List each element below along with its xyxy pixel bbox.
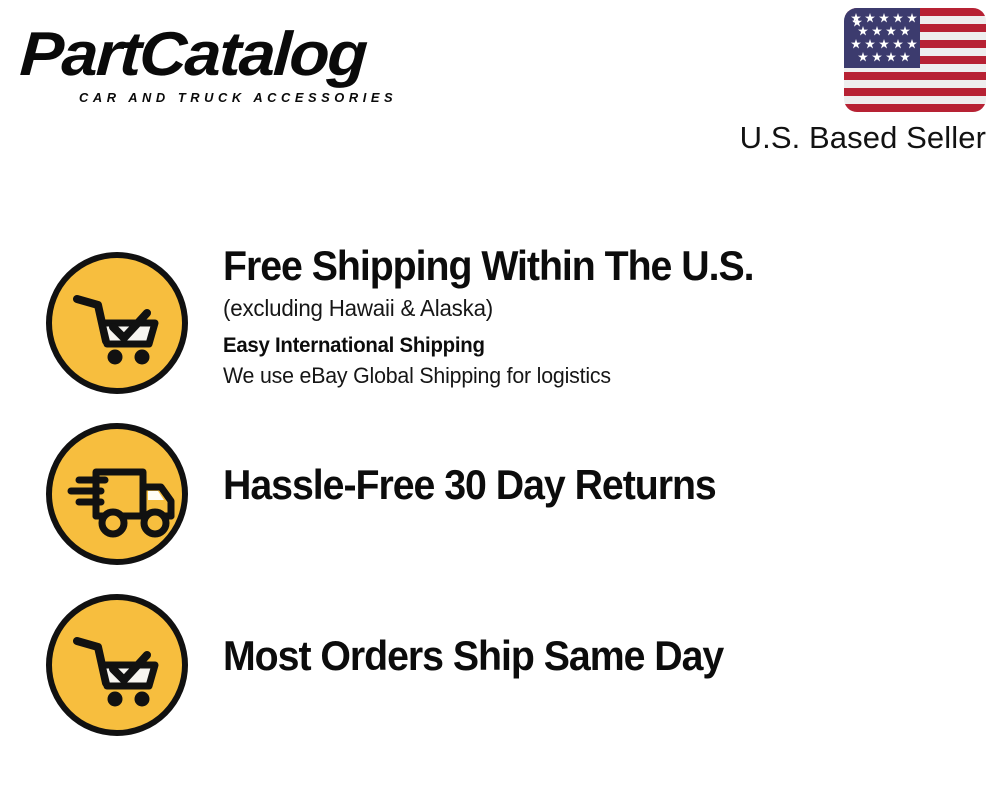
us-based-seller-label: U.S. Based Seller	[696, 120, 986, 156]
partcatalog-logo[interactable]: PartCatalog CAR AND TRUCK ACCESSORIES	[22, 22, 492, 117]
feature-text-block: Free Shipping Within The U.S. (excluding…	[223, 242, 983, 391]
feature-text-block: Most Orders Ship Same Day	[223, 582, 983, 730]
page-header: PartCatalog CAR AND TRUCK ACCESSORIES	[0, 0, 1000, 170]
feature-title: Free Shipping Within The U.S.	[223, 242, 934, 290]
shopping-cart-check-icon	[43, 591, 191, 739]
feature-sub-title: Easy International Shipping	[223, 332, 960, 360]
shopping-cart-check-icon	[43, 249, 191, 397]
list-item: Hassle-Free 30 Day Returns	[0, 411, 1000, 582]
feature-list: Free Shipping Within The U.S. (excluding…	[0, 240, 1000, 753]
feature-sub-note: We use eBay Global Shipping for logistic…	[223, 360, 960, 391]
delivery-truck-icon	[43, 420, 191, 568]
list-item: Free Shipping Within The U.S. (excluding…	[0, 240, 1000, 411]
feature-text-block: Hassle-Free 30 Day Returns	[223, 411, 983, 559]
feature-title: Most Orders Ship Same Day	[223, 632, 934, 680]
logo-tagline: CAR AND TRUCK ACCESSORIES	[79, 90, 397, 106]
feature-title: Hassle-Free 30 Day Returns	[223, 461, 934, 509]
logo-wordmark: PartCatalog	[18, 22, 520, 88]
feature-note: (excluding Hawaii & Alaska)	[223, 292, 960, 324]
us-based-seller-badge: U.S. Based Seller	[696, 8, 986, 156]
list-item: Most Orders Ship Same Day	[0, 582, 1000, 753]
us-flag-icon	[844, 8, 986, 112]
